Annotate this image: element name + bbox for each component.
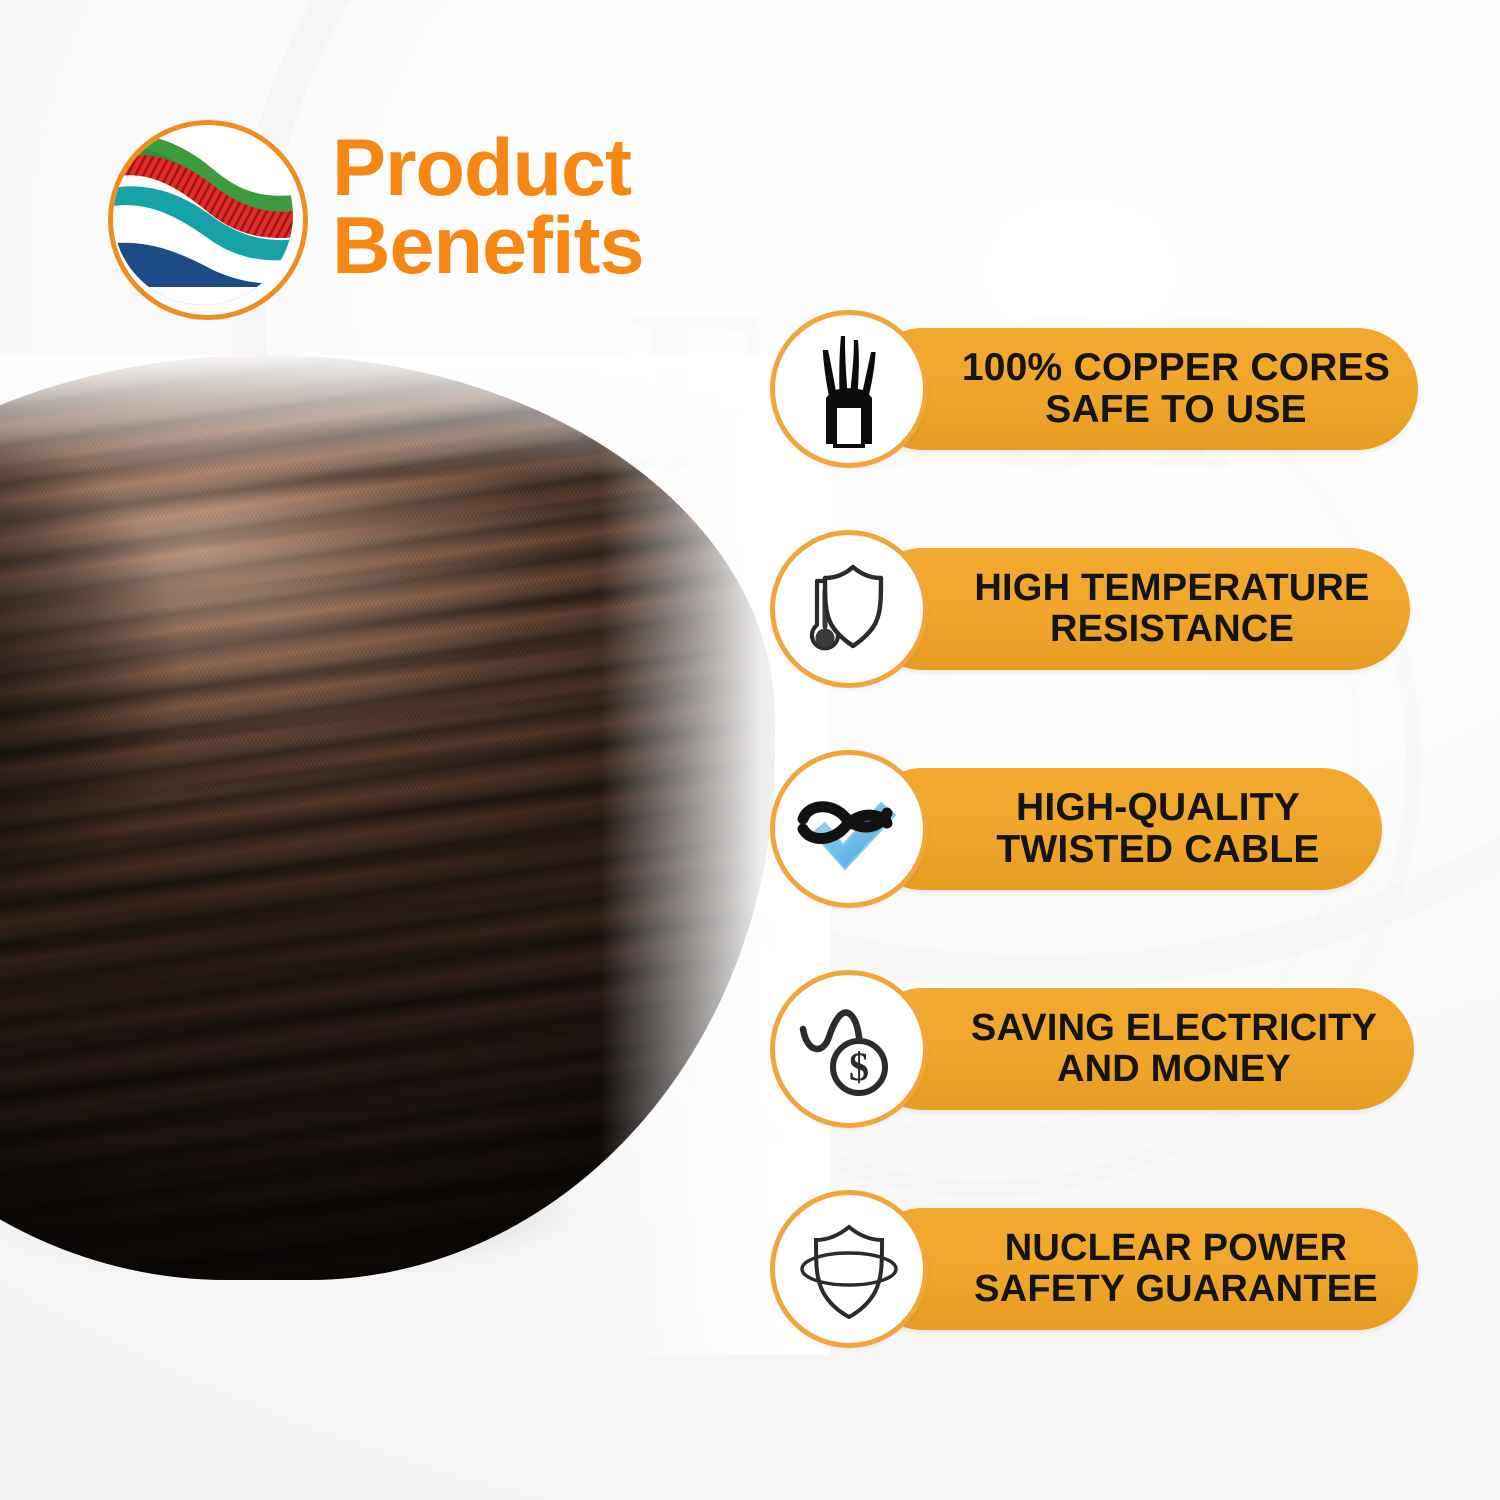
benefit-item: HIGH-QUALITY TWISTED CABLE	[770, 750, 1430, 908]
page-title-line-1: Product	[332, 123, 631, 213]
benefit-icon-bubble: $	[770, 970, 928, 1128]
thermometer-shield-icon	[795, 555, 903, 663]
benefit-label-line-1: HIGH-QUALITY	[996, 787, 1319, 829]
page-title-line-2: Benefits	[332, 208, 952, 286]
wave-dollar-coin-icon: $	[795, 997, 903, 1101]
benefit-label: HIGH-QUALITY TWISTED CABLE	[900, 787, 1343, 871]
benefit-label: 100% COPPER CORES SAFE TO USE	[866, 347, 1414, 431]
page-title: Product Benefits	[332, 130, 952, 286]
benefit-pill: HIGH TEMPERATURE RESISTANCE	[862, 548, 1410, 670]
shield-orbit-icon	[794, 1219, 904, 1319]
benefit-icon-bubble	[770, 750, 928, 908]
benefit-label-line-1: NUCLEAR POWER	[974, 1228, 1378, 1269]
stripped-cable-icon	[797, 330, 901, 448]
benefit-label-line-2: SAFETY GUARANTEE	[974, 1269, 1378, 1310]
benefit-label: HIGH TEMPERATURE RESISTANCE	[878, 568, 1393, 650]
svg-text:$: $	[849, 1044, 869, 1089]
infographic-canvas: FDSP INTERNATIONAL	[0, 0, 1500, 1500]
benefit-label-line-1: SAVING ELECTRICITY	[971, 1008, 1377, 1049]
benefit-item: 100% COPPER CORES SAFE TO USE	[770, 310, 1430, 468]
benefit-label-line-2: TWISTED CABLE	[996, 829, 1319, 871]
product-photo	[0, 355, 830, 1355]
photo-fade-top	[0, 355, 830, 475]
benefit-pill: 100% COPPER CORES SAFE TO USE	[862, 328, 1418, 450]
benefit-item: SAVING ELECTRICITY AND MONEY $	[770, 970, 1430, 1128]
benefit-icon-bubble	[770, 310, 928, 468]
benefit-label-line-1: HIGH TEMPERATURE	[974, 568, 1369, 609]
benefit-icon-bubble	[770, 530, 928, 688]
benefit-label-line-2: AND MONEY	[971, 1049, 1377, 1090]
product-benefits-logo	[108, 120, 308, 320]
benefit-label: SAVING ELECTRICITY AND MONEY	[875, 1008, 1401, 1090]
benefit-item: NUCLEAR POWER SAFETY GUARANTEE	[770, 1190, 1430, 1348]
twisted-cable-check-icon	[793, 783, 905, 875]
benefit-icon-bubble	[770, 1190, 928, 1348]
benefits-list: 100% COPPER CORES SAFE TO USE	[770, 310, 1430, 1348]
benefit-label: NUCLEAR POWER SAFETY GUARANTEE	[878, 1228, 1402, 1310]
benefit-label-line-2: RESISTANCE	[974, 609, 1369, 650]
benefit-label-line-2: SAFE TO USE	[962, 389, 1390, 431]
benefit-item: HIGH TEMPERATURE RESISTANCE	[770, 530, 1430, 688]
benefit-pill: NUCLEAR POWER SAFETY GUARANTEE	[862, 1208, 1418, 1330]
benefit-pill: HIGH-QUALITY TWISTED CABLE	[862, 768, 1382, 890]
benefit-pill: SAVING ELECTRICITY AND MONEY	[862, 988, 1414, 1110]
benefit-label-line-1: 100% COPPER CORES	[962, 347, 1390, 389]
